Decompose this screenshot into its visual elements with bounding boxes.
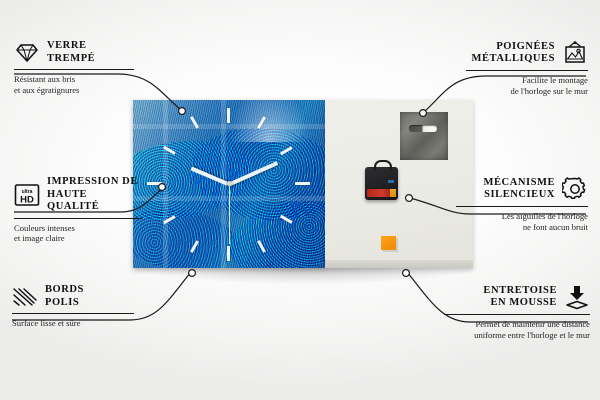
tick-4	[280, 215, 293, 224]
callout-verre-trempe[interactable]: VERRE TREMPÉ Résistant aux bris et aux é…	[14, 40, 134, 95]
tick-9	[147, 182, 162, 185]
highlight-glow	[229, 100, 309, 142]
callout-title: MÉCANISME SILENCIEUX	[484, 177, 555, 202]
mechanism-label	[388, 180, 394, 183]
tick-5	[257, 240, 266, 253]
callout-subtitle: Couleurs intenses et image claire	[14, 223, 142, 244]
diamond-icon	[14, 42, 40, 64]
gear-icon	[562, 176, 588, 202]
callout-entretoise-en-mousse[interactable]: ENTRETOISE EN MOUSSE Permet de maintenir…	[444, 284, 590, 340]
tick-12	[227, 108, 230, 123]
product-image	[133, 100, 473, 272]
callout-subtitle: Les aiguilles de l'horloge ne font aucun…	[456, 211, 588, 232]
ultra-hd-icon: ultra HD	[14, 183, 40, 207]
infographic-canvas: VERRE TREMPÉ Résistant aux bris et aux é…	[0, 0, 600, 400]
arrow-onto-layer-icon	[564, 284, 590, 310]
hanger-plate	[400, 112, 448, 160]
callout-subtitle: Résistant aux bris et aux égratignures	[14, 74, 134, 95]
callout-title: POIGNÉES MÉTALLIQUES	[472, 41, 555, 66]
wave-pattern-3	[222, 191, 325, 268]
callout-subtitle: Permet de maintenir une distance uniform…	[444, 319, 590, 340]
clock-face	[133, 100, 325, 268]
divider	[444, 314, 590, 315]
hanging-frame-icon	[562, 40, 588, 66]
divider	[14, 218, 142, 219]
mechanism-loop	[374, 160, 392, 171]
polished-edge-icon	[12, 286, 38, 308]
svg-text:HD: HD	[20, 194, 34, 205]
callout-title: VERRE TREMPÉ	[47, 40, 95, 65]
callout-mecanisme-silencieux[interactable]: MÉCANISME SILENCIEUX Les aiguilles de l'…	[456, 176, 588, 232]
minute-hand	[227, 161, 278, 186]
callout-title: ENTRETOISE EN MOUSSE	[483, 285, 557, 310]
tick-3	[295, 182, 310, 185]
back-panel-edge	[325, 260, 473, 268]
callout-subtitle: Surface lisse et sûre	[12, 318, 134, 329]
tick-2	[280, 146, 293, 155]
divider	[466, 70, 588, 71]
second-hand	[229, 182, 231, 244]
clock-back	[325, 100, 473, 268]
callout-bords-polis[interactable]: BORDS POLIS Surface lisse et sûre	[12, 284, 134, 329]
divider	[12, 313, 134, 314]
foam-spacer	[381, 236, 396, 250]
callout-title: BORDS POLIS	[45, 284, 84, 309]
clock-mechanism	[365, 167, 398, 200]
callout-subtitle: Facilite le montage de l'horloge sur le …	[466, 75, 588, 96]
tick-7	[190, 240, 199, 253]
divider	[14, 69, 134, 70]
divider	[456, 206, 588, 207]
callout-poignees-metalliques[interactable]: POIGNÉES MÉTALLIQUES Facilite le montage…	[466, 40, 588, 96]
battery	[367, 189, 394, 197]
callout-title: IMPRESSION DE HAUTE QUALITÉ	[47, 176, 142, 214]
tick-6	[227, 246, 230, 261]
callout-impression-haute-qualite[interactable]: ultra HD IMPRESSION DE HAUTE QUALITÉ Cou…	[14, 176, 142, 244]
hands-center-cap	[227, 181, 232, 186]
